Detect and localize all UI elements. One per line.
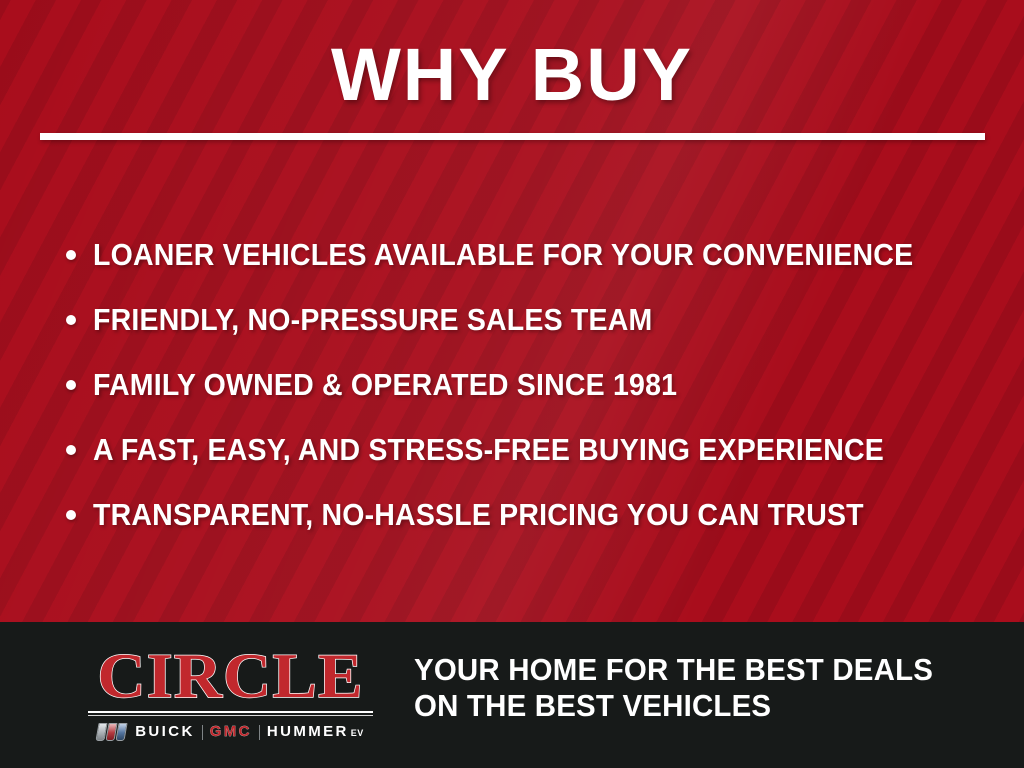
hero-section: WHY BUY LOANER VEHICLES AVAILABLE FOR YO… bbox=[0, 0, 1024, 622]
list-item-label: A FAST, EASY, AND STRESS-FREE BUYING EXP… bbox=[93, 433, 884, 467]
buick-trishield-icon bbox=[97, 723, 127, 741]
brand-label-gmc: GMC bbox=[210, 724, 252, 740]
list-item: LOANER VEHICLES AVAILABLE FOR YOUR CONVE… bbox=[66, 222, 996, 287]
brand-separator bbox=[259, 725, 260, 740]
shield-segment bbox=[116, 723, 128, 741]
logo-rule-lower bbox=[88, 715, 373, 716]
brand-label-hummer: HUMMER bbox=[267, 724, 349, 740]
bullet-dot-icon bbox=[66, 250, 76, 260]
footer-tagline-line-1: YOUR HOME FOR THE BEST DEALS bbox=[414, 652, 965, 688]
slide-root: WHY BUY LOANER VEHICLES AVAILABLE FOR YO… bbox=[0, 0, 1024, 768]
page-title: WHY BUY bbox=[0, 38, 1024, 112]
logo-divider-rules bbox=[88, 711, 373, 716]
list-item: A FAST, EASY, AND STRESS-FREE BUYING EXP… bbox=[66, 417, 996, 482]
brand-label-hummer-group: HUMMER EV bbox=[267, 724, 364, 741]
bullet-dot-icon bbox=[66, 510, 76, 520]
title-divider-rule bbox=[40, 133, 985, 140]
list-item: FRIENDLY, NO-PRESSURE SALES TEAM bbox=[66, 287, 996, 352]
footer-tagline-line-2: ON THE BEST VEHICLES bbox=[414, 688, 965, 724]
logo-rule-upper bbox=[88, 711, 373, 713]
list-item: FAMILY OWNED & OPERATED SINCE 1981 bbox=[66, 352, 996, 417]
bullet-dot-icon bbox=[66, 380, 76, 390]
list-item-label: LOANER VEHICLES AVAILABLE FOR YOUR CONVE… bbox=[93, 238, 913, 272]
list-item: TRANSPARENT, NO-HASSLE PRICING YOU CAN T… bbox=[66, 482, 996, 547]
brand-label-buick: BUICK bbox=[135, 724, 195, 740]
dealer-logo: CIRCLE BUICK GMC HUMMER EV bbox=[88, 645, 373, 742]
list-item-label: FRIENDLY, NO-PRESSURE SALES TEAM bbox=[93, 303, 652, 337]
benefits-list: LOANER VEHICLES AVAILABLE FOR YOUR CONVE… bbox=[66, 222, 996, 547]
brand-badge-row: BUICK GMC HUMMER EV bbox=[88, 722, 373, 742]
list-item-label: FAMILY OWNED & OPERATED SINCE 1981 bbox=[93, 368, 677, 402]
bullet-dot-icon bbox=[66, 445, 76, 455]
dealer-wordmark: CIRCLE bbox=[79, 645, 381, 708]
brand-label-hummer-ev: EV bbox=[351, 725, 364, 741]
list-item-label: TRANSPARENT, NO-HASSLE PRICING YOU CAN T… bbox=[93, 498, 864, 532]
bullet-dot-icon bbox=[66, 315, 76, 325]
brand-separator bbox=[202, 725, 203, 740]
footer-tagline: YOUR HOME FOR THE BEST DEALS ON THE BEST… bbox=[414, 652, 965, 724]
